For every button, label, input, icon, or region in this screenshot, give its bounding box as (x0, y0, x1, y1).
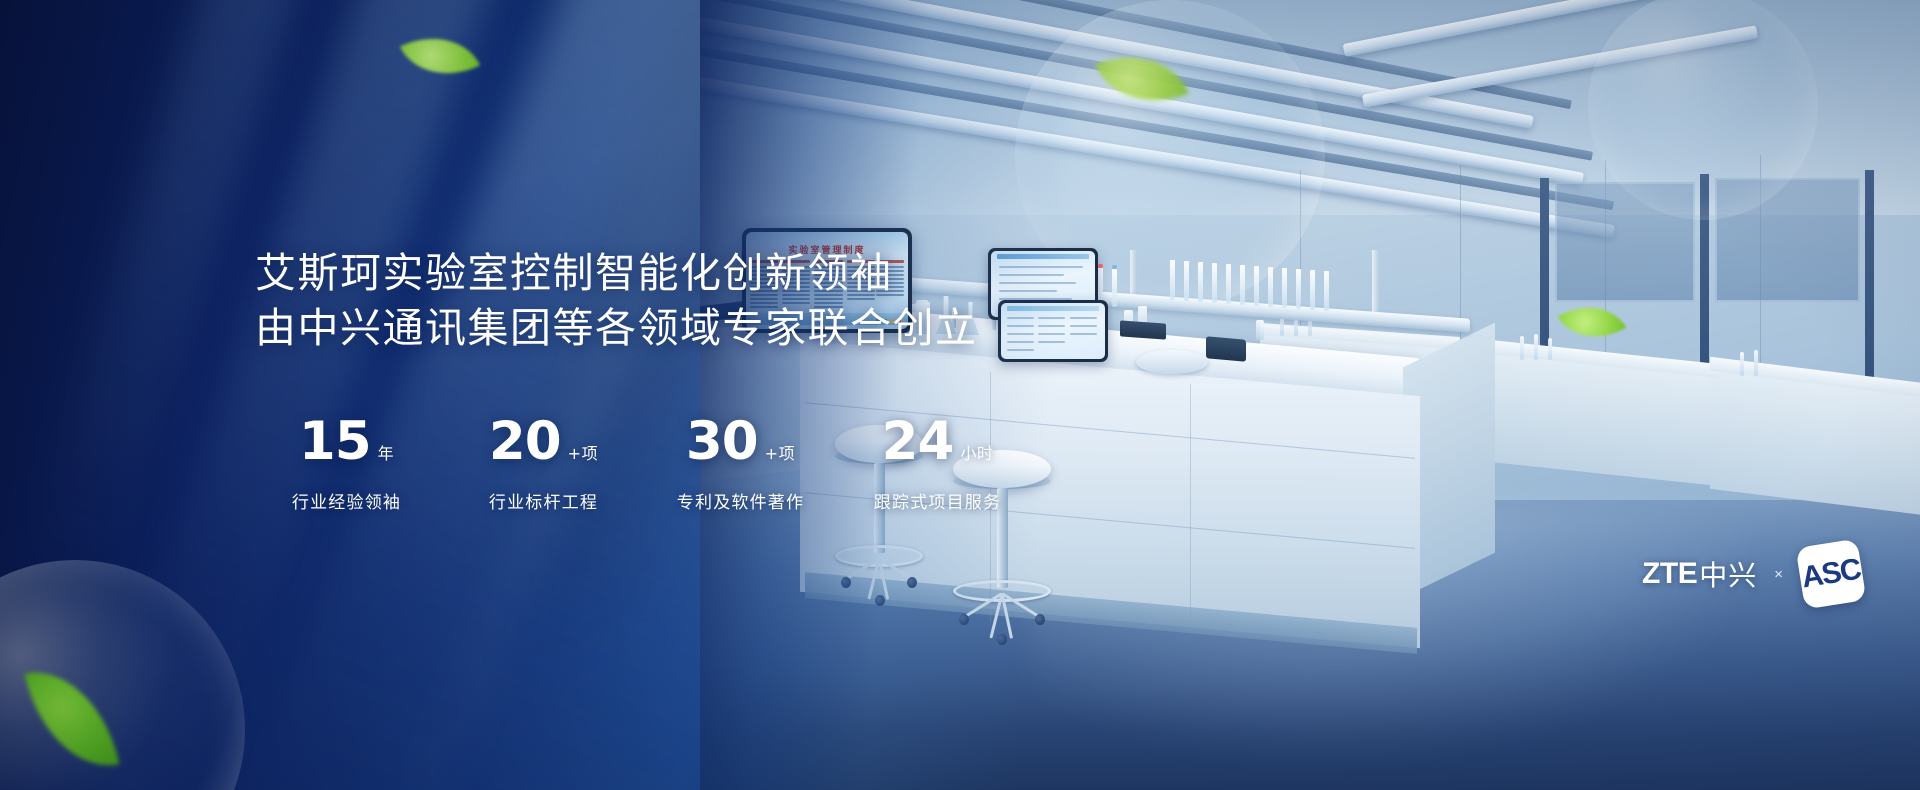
glassware (1548, 338, 1552, 360)
stat-unit: +项 (568, 440, 598, 464)
stat-unit: 年 (378, 440, 395, 464)
headline-block: 艾斯珂实验室控制智能化创新领袖 由中兴通讯集团等各领域专家联合创立 (255, 246, 978, 355)
test-tube (1296, 269, 1301, 309)
stat-label: 跟踪式项目服务 (839, 488, 1036, 513)
headline-line-2: 由中兴通讯集团等各领域专家联合创立 (255, 301, 978, 356)
stat-value-row: 20 +项 (445, 415, 642, 468)
tube-cap (1098, 264, 1103, 268)
stat-unit: 小时 (960, 440, 993, 464)
glassware (1520, 336, 1524, 360)
zte-wordmark-en: ZTE (1642, 557, 1697, 591)
zte-wordmark-cn: 中兴 (1699, 554, 1757, 594)
test-tube (1212, 263, 1217, 303)
stat-value-row: 24 小时 (839, 415, 1036, 468)
stool-caster (959, 614, 969, 625)
test-tube (1268, 267, 1273, 307)
stat-item: 30 +项 专利及软件著作 (642, 415, 839, 513)
tube-cap (1112, 265, 1117, 269)
glassware (1754, 350, 1758, 376)
zte-logo: ZTE 中兴 (1642, 554, 1757, 594)
test-tube (1226, 264, 1231, 304)
stool-caster (841, 577, 851, 588)
test-tube (1112, 269, 1117, 307)
monitor-screen (1001, 303, 1105, 359)
window-pane (1715, 178, 1860, 302)
test-tube (1240, 265, 1245, 305)
stool-caster (997, 634, 1007, 645)
asc-wordmark: ASC (1799, 553, 1862, 596)
stat-number: 20 (489, 415, 561, 468)
test-tube (1254, 266, 1259, 306)
stat-number: 15 (299, 415, 371, 468)
asc-logo: ASC (1796, 539, 1867, 610)
logo-separator-icon: × (1774, 566, 1783, 583)
stool-caster (875, 595, 885, 606)
stat-number: 24 (882, 415, 954, 468)
stats-row: 15 年 行业经验领袖 20 +项 行业标杆工程 30 +项 专利及软件著作 2… (248, 415, 1036, 513)
wash-basin (1136, 350, 1208, 374)
test-tube (1310, 270, 1315, 310)
stat-value-row: 30 +项 (642, 415, 839, 468)
instrument-module (1120, 320, 1166, 339)
stat-label: 行业标杆工程 (445, 488, 642, 513)
stool-caster (907, 577, 917, 588)
glassware (1534, 334, 1538, 360)
stat-unit: +项 (765, 440, 795, 464)
test-tube (1198, 262, 1203, 302)
hero-banner: 实验室管理制度 (0, 0, 1920, 790)
window-pane (1555, 182, 1695, 302)
stat-item: 15 年 行业经验领袖 (248, 415, 445, 513)
stat-label: 专利及软件著作 (642, 488, 839, 513)
headline-line-1: 艾斯珂实验室控制智能化创新领袖 (255, 246, 978, 301)
instrument-module (1206, 336, 1246, 361)
test-tube (1282, 268, 1287, 308)
stat-label: 行业经验领袖 (248, 488, 445, 513)
island-door-seam (1190, 384, 1191, 632)
stat-number: 30 (686, 415, 758, 468)
lab-monitor (998, 300, 1108, 362)
stat-item: 24 小时 跟踪式项目服务 (839, 415, 1036, 513)
test-tube (1184, 261, 1189, 301)
glassware (1740, 352, 1744, 376)
logo-lockup: ZTE 中兴 × ASC (1642, 543, 1862, 605)
test-tube (1170, 260, 1175, 300)
stat-item: 20 +项 行业标杆工程 (445, 415, 642, 513)
beaker (1256, 320, 1264, 340)
stool-caster (1035, 614, 1045, 625)
test-tube (1324, 271, 1329, 311)
stat-value-row: 15 年 (248, 415, 445, 468)
laboratory-scene-image: 实验室管理制度 (700, 0, 1920, 790)
bridge-post (1372, 250, 1379, 312)
